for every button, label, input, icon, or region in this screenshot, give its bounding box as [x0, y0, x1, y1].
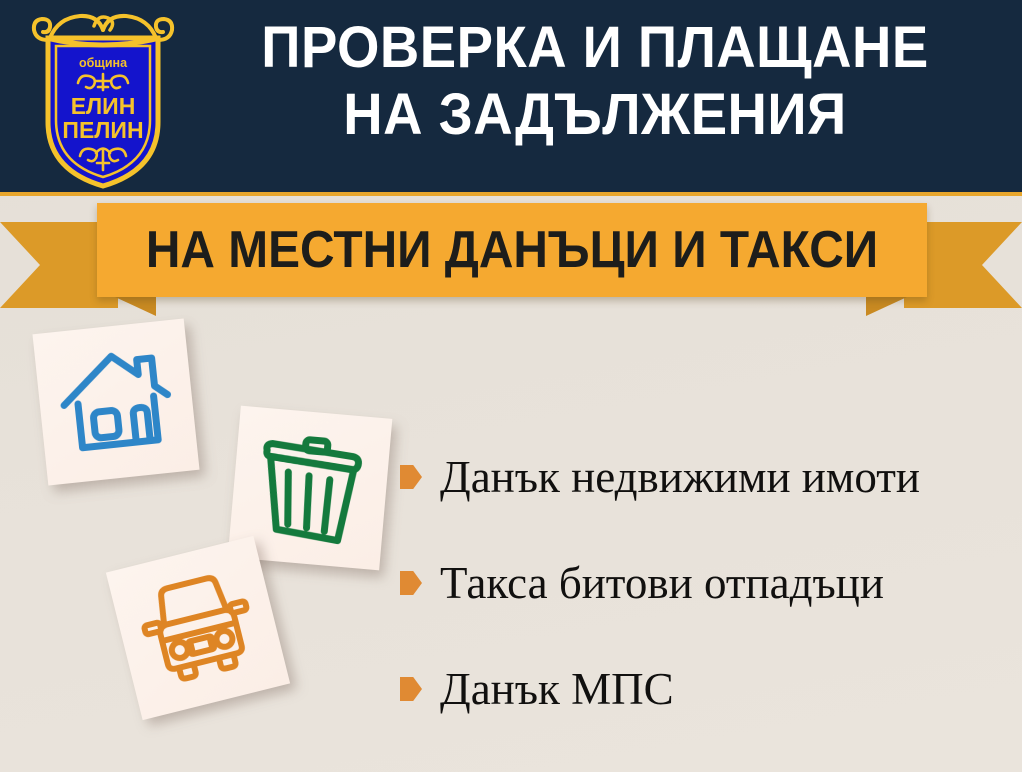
- list-item[interactable]: Такса битови отпадъци: [400, 530, 1010, 636]
- arrow-bullet-icon: [400, 465, 422, 489]
- list-item-label: Данък недвижими имоти: [440, 455, 920, 500]
- poster-canvas: община ЕЛИН ПЕЛИН ПРОВЕРКА И ПЛАЩАНЕ НА …: [0, 0, 1022, 772]
- crest-label-pelin: ПЕЛИН: [62, 117, 143, 143]
- stamp-collage: [0, 290, 420, 772]
- ribbon-text: НА МЕСТНИ ДАНЪЦИ И ТАКСИ: [146, 220, 878, 280]
- list-item[interactable]: Данък МПС: [400, 636, 1010, 742]
- page-title: ПРОВЕРКА И ПЛАЩАНЕ НА ЗАДЪЛЖЕНИЯ: [180, 18, 1010, 144]
- tax-type-list: Данък недвижими имоти Такса битови отпад…: [400, 424, 1010, 742]
- stamp-card-house: [8, 294, 223, 509]
- municipality-crest-icon: община ЕЛИН ПЕЛИН: [28, 10, 178, 190]
- page-title-line-1: ПРОВЕРКА И ПЛАЩАНЕ: [205, 18, 985, 77]
- list-item-label: Такса битови отпадъци: [440, 561, 884, 606]
- list-item-label: Данък МПС: [440, 667, 674, 712]
- crest-label-obshtina: община: [79, 56, 128, 70]
- list-item[interactable]: Данък недвижими имоти: [400, 424, 1010, 530]
- arrow-bullet-icon: [400, 677, 422, 701]
- arrow-bullet-icon: [400, 571, 422, 595]
- subtitle-ribbon: НА МЕСТНИ ДАНЪЦИ И ТАКСИ: [0, 193, 1022, 318]
- ribbon-panel: НА МЕСТНИ ДАНЪЦИ И ТАКСИ: [97, 203, 927, 297]
- page-title-line-2: НА ЗАДЪЛЖЕНИЯ: [205, 85, 985, 144]
- crest-label-elin: ЕЛИН: [71, 93, 136, 119]
- house-icon: [41, 327, 190, 476]
